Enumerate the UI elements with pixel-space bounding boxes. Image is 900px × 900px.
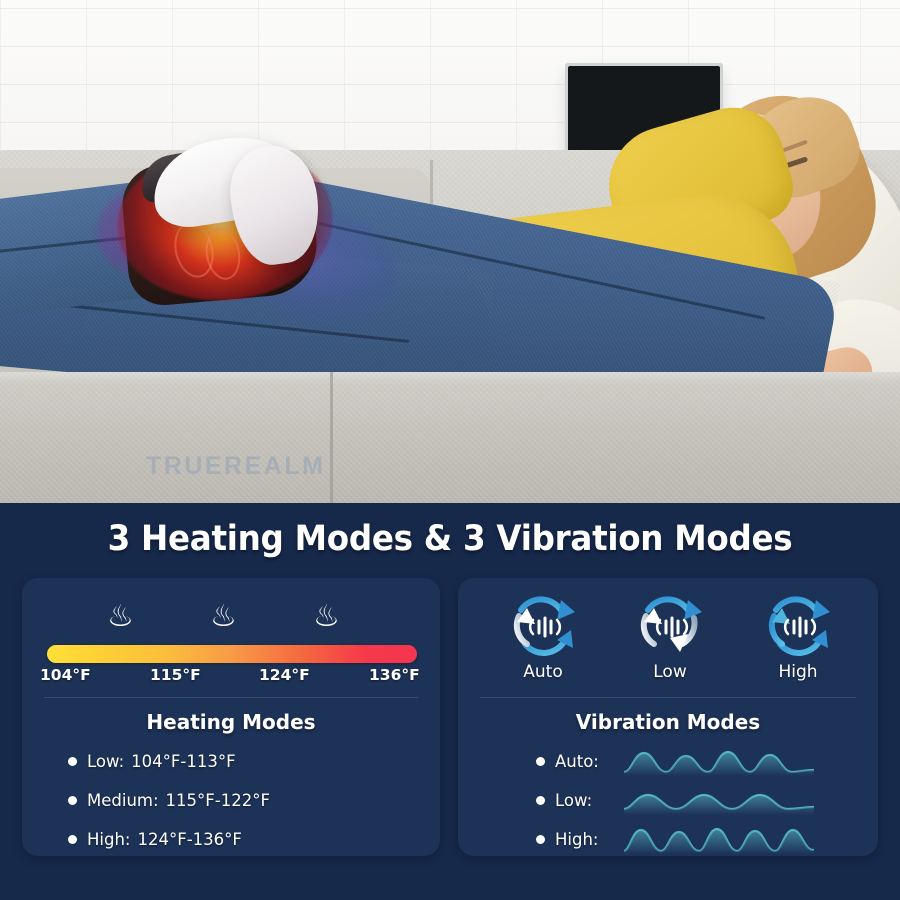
vibration-mode-low: Low: bbox=[536, 791, 599, 810]
bullet-dot bbox=[68, 835, 77, 844]
brand-watermark: TRUEREALM bbox=[146, 452, 325, 481]
waveform-auto bbox=[624, 748, 814, 778]
heating-mode-high: High: 124°F-136°F bbox=[68, 830, 242, 849]
heating-mode-low: Low: 104°F-113°F bbox=[68, 752, 236, 771]
waveform-high bbox=[624, 826, 814, 856]
vibration-low-label: Low: bbox=[555, 791, 592, 810]
bullet-dot bbox=[536, 796, 545, 805]
page-title: 3 Heating Modes & 3 Vibration Modes bbox=[32, 519, 869, 559]
steam-icons-row: ♨ ♨ ♨ bbox=[22, 598, 440, 644]
bullet-dot bbox=[68, 796, 77, 805]
temp-label-136: 136°F bbox=[369, 666, 420, 684]
temp-label-104: 104°F bbox=[40, 666, 91, 684]
vibration-icon-low-label: Low bbox=[615, 662, 725, 682]
sofa-seat-cushion bbox=[0, 372, 900, 503]
lifestyle-photo: TRUEREALM bbox=[0, 0, 900, 503]
fabric-texture bbox=[0, 372, 900, 503]
vibration-auto-label: Auto: bbox=[555, 752, 599, 771]
vibration-icon-auto-label: Auto bbox=[488, 662, 598, 682]
vibration-panel-divider bbox=[480, 697, 856, 698]
bullet-dot bbox=[536, 757, 545, 766]
heating-medium-range: 115°F-122°F bbox=[166, 791, 270, 810]
temperature-gradient-bar bbox=[47, 645, 417, 663]
vibration-mode-auto: Auto: bbox=[536, 752, 606, 771]
heating-panel-title: Heating Modes bbox=[22, 710, 440, 734]
heating-low-range: 104°F-113°F bbox=[131, 752, 235, 771]
steam-1-icon: ♨ bbox=[107, 602, 134, 632]
vibration-mode-high: High: bbox=[536, 830, 605, 849]
heating-panel-divider bbox=[44, 697, 418, 698]
product-infographic: TRUEREALM 3 Heating Modes & 3 Vibration … bbox=[0, 0, 900, 900]
heating-low-label: Low: bbox=[87, 752, 124, 771]
heating-mode-medium: Medium: 115°F-122°F bbox=[68, 791, 270, 810]
vibration-panel-title: Vibration Modes bbox=[458, 710, 878, 734]
vibration-high-label: High: bbox=[555, 830, 598, 849]
bullet-dot bbox=[68, 757, 77, 766]
heating-high-label: High: bbox=[87, 830, 130, 849]
temp-label-115: 115°F bbox=[150, 666, 201, 684]
steam-2-icon: ♨ bbox=[210, 602, 237, 632]
vibration-cycle-icon bbox=[505, 596, 581, 658]
vibration-icon-auto: Auto bbox=[488, 596, 598, 682]
vibration-icon-low: Low bbox=[615, 596, 725, 682]
vibration-cycle-icon bbox=[632, 596, 708, 658]
heating-medium-label: Medium: bbox=[87, 791, 159, 810]
sofa-seat-seam bbox=[330, 372, 333, 503]
temp-label-124: 124°F bbox=[259, 666, 310, 684]
vibration-icon-high-label: High bbox=[743, 662, 853, 682]
waveform-low bbox=[624, 787, 814, 817]
vibration-icon-high: High bbox=[743, 596, 853, 682]
heating-high-range: 124°F-136°F bbox=[137, 830, 241, 849]
steam-3-icon: ♨ bbox=[313, 602, 340, 632]
vibration-cycle-icon bbox=[760, 596, 836, 658]
bullet-dot bbox=[536, 835, 545, 844]
